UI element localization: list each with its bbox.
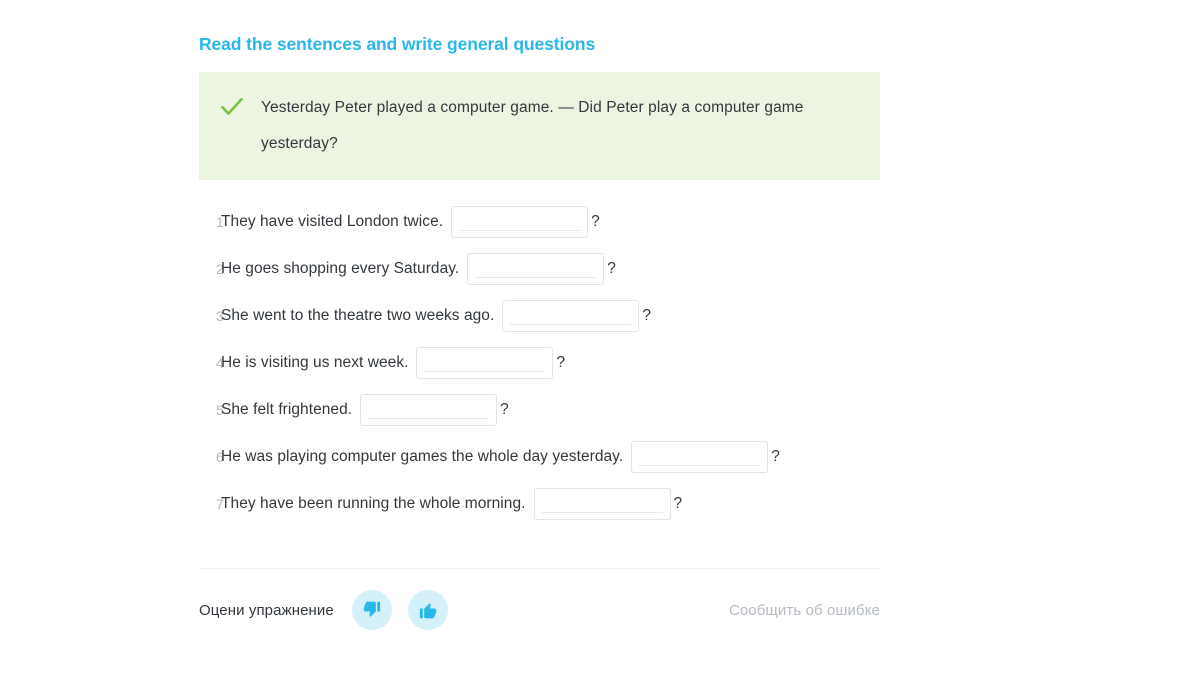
question-mark: ?	[674, 495, 683, 513]
check-icon	[219, 94, 245, 120]
thumbs-down-button[interactable]	[352, 590, 392, 630]
question-mark: ?	[642, 307, 651, 325]
answer-input-7[interactable]	[534, 488, 671, 520]
question-sentence: He goes shopping every Saturday.	[221, 260, 459, 278]
exercise-page: Read the sentences and write general que…	[0, 0, 1196, 700]
answer-input-3[interactable]	[502, 300, 639, 332]
question-number: 7	[199, 496, 221, 512]
question-mark: ?	[500, 401, 509, 419]
answer-input-wrap	[526, 488, 674, 520]
footer-divider	[199, 568, 880, 569]
answer-input-wrap	[623, 441, 771, 473]
question-sentence: They have visited London twice.	[221, 213, 443, 231]
question-sentence: She went to the theatre two weeks ago.	[221, 307, 494, 325]
answer-input-6[interactable]	[631, 441, 768, 473]
question-row-5: 5 She felt frightened. ?	[199, 386, 880, 433]
question-row-7: 7 They have been running the whole morni…	[199, 480, 880, 527]
question-sentence: They have been running the whole morning…	[221, 495, 526, 513]
question-row-1: 1 They have visited London twice. ?	[199, 198, 880, 245]
answer-input-4[interactable]	[416, 347, 553, 379]
question-row-2: 2 He goes shopping every Saturday. ?	[199, 245, 880, 292]
question-number: 2	[199, 261, 221, 277]
exercise-content: Read the sentences and write general que…	[199, 0, 880, 630]
question-row-4: 4 He is visiting us next week. ?	[199, 339, 880, 386]
report-error-link[interactable]: Сообщить об ошибке	[729, 602, 880, 619]
question-mark: ?	[556, 354, 565, 372]
question-sentence: He is visiting us next week.	[221, 354, 408, 372]
rate-label: Оцени упражнение	[199, 602, 334, 619]
question-number: 5	[199, 402, 221, 418]
answer-input-2[interactable]	[467, 253, 604, 285]
question-row-3: 3 She went to the theatre two weeks ago.…	[199, 292, 880, 339]
answer-input-wrap	[408, 347, 556, 379]
example-text: Yesterday Peter played a computer game. …	[261, 90, 852, 162]
question-mark: ?	[771, 448, 780, 466]
question-sentence: He was playing computer games the whole …	[221, 448, 623, 466]
question-number: 3	[199, 308, 221, 324]
question-mark: ?	[607, 260, 616, 278]
answer-input-wrap	[352, 394, 500, 426]
answer-input-wrap	[459, 253, 607, 285]
question-mark: ?	[591, 213, 600, 231]
thumbs-up-icon	[418, 600, 438, 620]
thumbs-up-button[interactable]	[408, 590, 448, 630]
exercise-footer: Оцени упражнение Сообщить об ошибке	[199, 590, 880, 630]
question-row-6: 6 He was playing computer games the whol…	[199, 433, 880, 480]
page-title: Read the sentences and write general que…	[199, 0, 880, 54]
question-number: 6	[199, 449, 221, 465]
example-box: Yesterday Peter played a computer game. …	[199, 72, 880, 180]
thumbs-down-icon	[362, 600, 382, 620]
rate-buttons	[352, 590, 464, 630]
answer-input-wrap	[443, 206, 591, 238]
questions-list: 1 They have visited London twice. ? 2 He…	[199, 198, 880, 527]
answer-input-1[interactable]	[451, 206, 588, 238]
answer-input-5[interactable]	[360, 394, 497, 426]
question-number: 1	[199, 214, 221, 230]
question-number: 4	[199, 355, 221, 371]
question-sentence: She felt frightened.	[221, 401, 352, 419]
answer-input-wrap	[494, 300, 642, 332]
